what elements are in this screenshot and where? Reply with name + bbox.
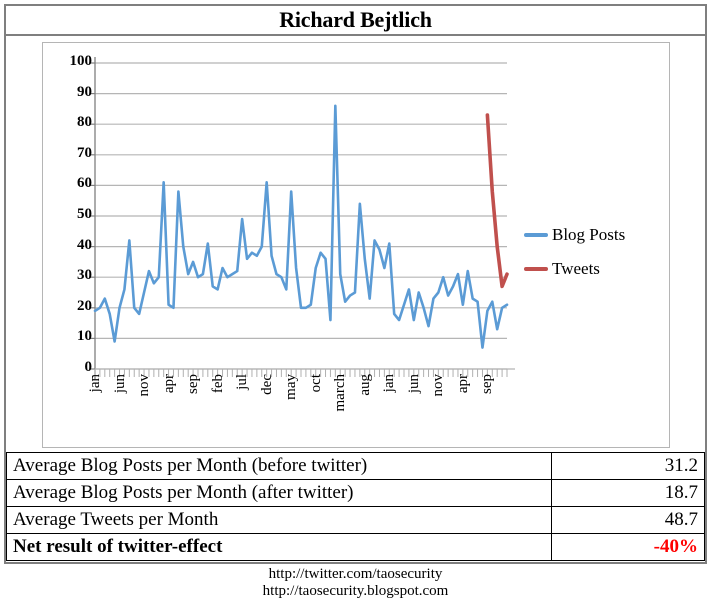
x-axis-label: jan [87, 374, 104, 392]
footer-blog-url: http://taosecurity.blogspot.com [0, 583, 711, 600]
chart-legend: Blog PostsTweets [524, 218, 674, 286]
y-axis-label: 20 [58, 299, 92, 314]
table-row: Net result of twitter-effect-40% [7, 534, 705, 561]
y-axis-labels: 0102030405060708090100 [56, 42, 92, 382]
x-axis-label: march [332, 374, 349, 411]
summary-table: Average Blog Posts per Month (before twi… [6, 452, 705, 561]
page-title-text: Richard Bejtlich [279, 7, 432, 33]
x-axis-label: sep [185, 374, 202, 394]
footer-twitter-url: http://twitter.com/taosecurity [0, 566, 711, 583]
y-axis-label: 80 [58, 115, 92, 130]
table-row-label: Average Blog Posts per Month (after twit… [7, 480, 552, 507]
x-axis-labels: janjunnovaprsepfebjuldecmayoctmarchaugja… [42, 370, 670, 442]
table-row-label: Average Blog Posts per Month (before twi… [7, 453, 552, 480]
table-row-value: 48.7 [552, 507, 705, 534]
x-axis-label: oct [308, 374, 325, 392]
x-axis-label: apr [161, 374, 178, 393]
x-axis-label: feb [210, 374, 227, 393]
y-axis-label: 50 [58, 207, 92, 222]
x-axis-label: may [283, 374, 300, 400]
legend-item: Blog Posts [524, 218, 674, 252]
y-axis-label: 40 [58, 238, 92, 253]
x-axis-label: aug [357, 374, 374, 396]
legend-item: Tweets [524, 252, 674, 286]
page-title: Richard Bejtlich [6, 6, 705, 36]
y-axis-label: 30 [58, 268, 92, 283]
x-axis-label: nov [430, 374, 447, 397]
x-axis-label: jan [381, 374, 398, 392]
table-row-value: -40% [552, 534, 705, 561]
y-axis-label: 10 [58, 329, 92, 344]
x-axis-label: jul [234, 374, 251, 390]
chart-page: Richard Bejtlich 0102030405060708090100 … [0, 0, 711, 602]
y-axis-label: 70 [58, 146, 92, 161]
x-axis-label: jun [406, 374, 423, 393]
x-axis-label: dec [259, 374, 276, 395]
y-axis-label: 100 [58, 54, 92, 69]
legend-swatch-icon [524, 233, 548, 237]
table-row-label: Average Tweets per Month [7, 507, 552, 534]
x-axis-label: jun [112, 374, 129, 393]
table-row: Average Tweets per Month48.7 [7, 507, 705, 534]
table-row: Average Blog Posts per Month (after twit… [7, 480, 705, 507]
x-axis-label: nov [136, 374, 153, 397]
y-axis-label: 60 [58, 176, 92, 191]
series-line-tweets [487, 115, 507, 286]
legend-label: Blog Posts [552, 225, 625, 245]
table-row-value: 18.7 [552, 480, 705, 507]
footer: http://twitter.com/taosecurity http://ta… [0, 566, 711, 600]
table-row-label: Net result of twitter-effect [7, 534, 552, 561]
x-axis-label: apr [455, 374, 472, 393]
table-row-value: 31.2 [552, 453, 705, 480]
legend-label: Tweets [552, 259, 600, 279]
y-axis-label: 90 [58, 85, 92, 100]
x-axis-label: sep [479, 374, 496, 394]
series-line-blog-posts [95, 106, 507, 348]
table-row: Average Blog Posts per Month (before twi… [7, 453, 705, 480]
legend-swatch-icon [524, 267, 548, 271]
